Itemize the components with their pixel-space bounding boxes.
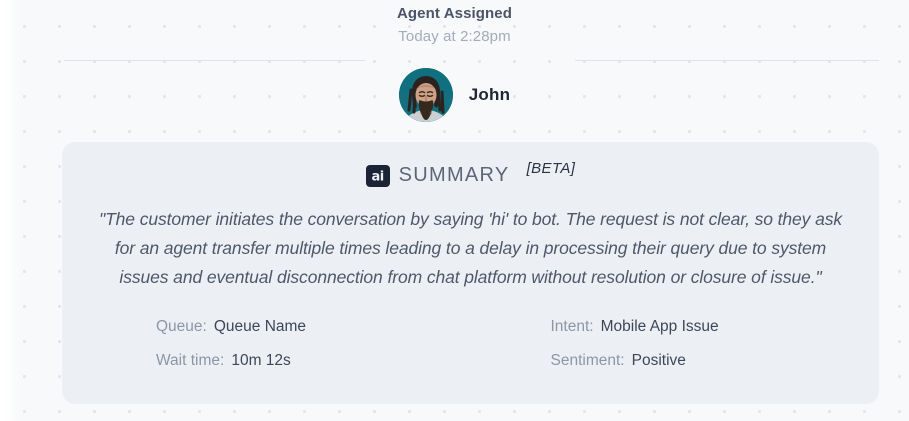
meta-key-queue: Queue: xyxy=(156,312,207,342)
event-title: Agent Assigned xyxy=(0,3,909,25)
agent-row: John xyxy=(0,68,909,122)
ai-icon-glyph: ai xyxy=(371,170,383,183)
divider-right xyxy=(575,60,879,61)
summary-text: "The customer initiates the conversation… xyxy=(88,205,853,292)
meta-key-sentiment: Sentiment: xyxy=(551,346,625,376)
summary-header: ai SUMMARY [BETA] xyxy=(88,162,853,192)
summary-meta-grid: Queue: Queue Name Intent: Mobile App Iss… xyxy=(88,312,853,376)
avatar[interactable] xyxy=(399,68,453,122)
conversation-timeline: Agent Assigned Today at 2:28pm xyxy=(0,0,909,421)
summary-card: ai SUMMARY [BETA] "The customer initiate… xyxy=(62,142,879,404)
meta-item-intent: Intent: Mobile App Issue xyxy=(480,312,804,342)
meta-key-intent: Intent: xyxy=(551,312,594,342)
meta-item-wait-time: Wait time: 10m 12s xyxy=(156,346,480,376)
meta-item-queue: Queue: Queue Name xyxy=(156,312,480,342)
divider-left xyxy=(64,60,365,61)
summary-label: SUMMARY xyxy=(399,162,510,188)
ai-icon: ai xyxy=(366,165,390,187)
agent-name: John xyxy=(469,85,510,105)
event-timestamp: Today at 2:28pm xyxy=(0,25,909,49)
meta-value-intent: Mobile App Issue xyxy=(601,312,719,342)
meta-key-wait-time: Wait time: xyxy=(156,346,224,376)
meta-value-queue: Queue Name xyxy=(214,312,306,342)
event-header: Agent Assigned Today at 2:28pm xyxy=(0,3,909,49)
meta-value-sentiment: Positive xyxy=(632,346,686,376)
beta-badge: [BETA] xyxy=(527,160,576,177)
meta-item-sentiment: Sentiment: Positive xyxy=(480,346,804,376)
meta-value-wait-time: 10m 12s xyxy=(231,346,290,376)
